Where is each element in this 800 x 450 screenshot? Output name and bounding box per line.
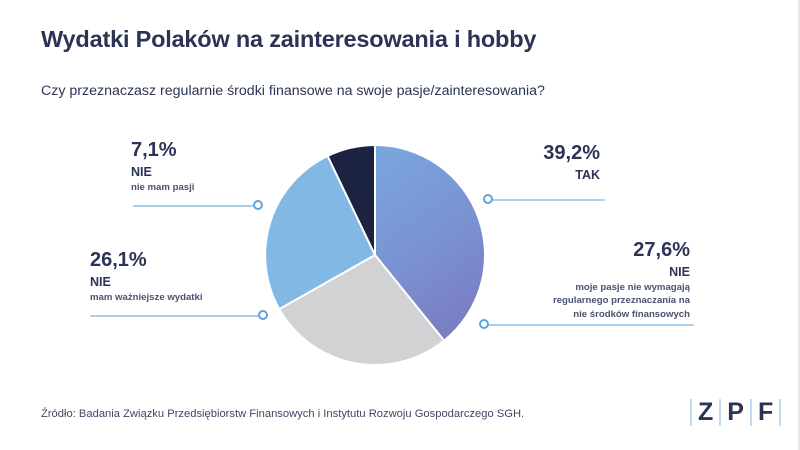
- logo-letter-f: F: [752, 400, 779, 425]
- callout-percent: 39,2%: [440, 143, 600, 164]
- connector-knob: [253, 200, 263, 210]
- connector-nie-wymagaja: [479, 319, 694, 331]
- logo-divider-bar: [779, 399, 781, 426]
- connector-line: [90, 315, 260, 317]
- callout-nie-mam-pasji: 7,1% NIE nie mam pasji: [131, 140, 194, 194]
- logo-letter-p: P: [721, 400, 750, 425]
- callout-tak: 39,2% TAK: [440, 143, 600, 184]
- source-note: Źródło: Badania Związku Przedsiębiorstw …: [41, 408, 524, 420]
- callout-percent: 26,1%: [90, 250, 203, 271]
- callout-nie-wymagaja: 27,6% NIE moje pasje nie wymagają regula…: [505, 240, 690, 322]
- page-title: Wydatki Polaków na zainteresowania i hob…: [41, 26, 536, 53]
- callout-description-line-2: regularnego przeznaczania na: [505, 295, 690, 308]
- connector-nie-wazniejsze-wydatki: [90, 310, 270, 322]
- callout-answer: NIE: [505, 265, 690, 281]
- connector-knob: [479, 319, 489, 329]
- callout-answer: TAK: [440, 168, 600, 184]
- zpf-logo: Z P F: [690, 395, 781, 429]
- callout-percent: 7,1%: [131, 140, 194, 161]
- callout-answer: NIE: [90, 275, 203, 291]
- connector-line: [491, 199, 605, 201]
- callout-percent: 27,6%: [505, 240, 690, 261]
- connector-knob: [258, 310, 268, 320]
- connector-nie-mam-pasji: [133, 200, 265, 212]
- connector-knob: [483, 194, 493, 204]
- callout-description-line-1: moje pasje nie wymagają: [505, 282, 690, 295]
- logo-letter-z: Z: [692, 400, 719, 425]
- callout-answer: NIE: [131, 165, 194, 181]
- callout-description: mam ważniejsze wydatki: [90, 292, 203, 305]
- infographic-canvas: Wydatki Polaków na zainteresowania i hob…: [0, 0, 800, 450]
- callout-nie-wazniejsze-wydatki: 26,1% NIE mam ważniejsze wydatki: [90, 250, 203, 304]
- connector-tak: [483, 194, 605, 206]
- connector-line: [133, 205, 255, 207]
- connector-line: [487, 324, 694, 326]
- chart-subtitle: Czy przeznaczasz regularnie środki finan…: [41, 83, 545, 99]
- callout-description: nie mam pasji: [131, 182, 194, 195]
